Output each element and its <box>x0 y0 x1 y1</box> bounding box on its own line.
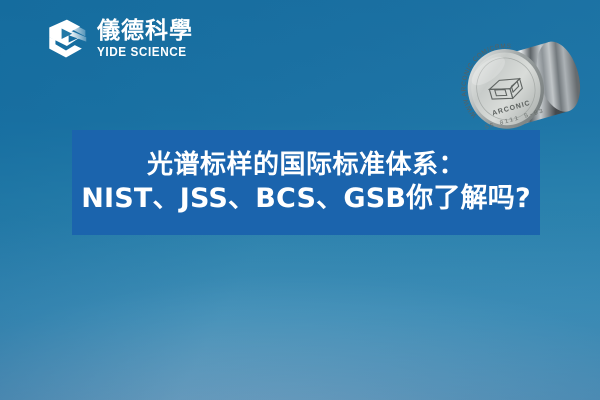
headline-line-2: NIST、JSS、BCS、GSB你了解吗? <box>81 183 531 215</box>
brand-logo: 儀德科學 YIDE SCIENCE <box>44 17 193 61</box>
brand-text-block: 儀德科學 YIDE SCIENCE <box>97 20 193 59</box>
poster-canvas: 儀德科學 YIDE SCIENCE <box>0 0 600 400</box>
headline-banner: 光谱标样的国际标准体系： NIST、JSS、BCS、GSB你了解吗? <box>72 130 540 235</box>
brand-name-en: YIDE SCIENCE <box>97 46 187 59</box>
brand-name-cn: 儀德科學 <box>97 20 193 43</box>
yide-folded-arrow-mark-icon <box>44 17 88 61</box>
headline-line-1: 光谱标样的国际标准体系： <box>147 150 465 181</box>
